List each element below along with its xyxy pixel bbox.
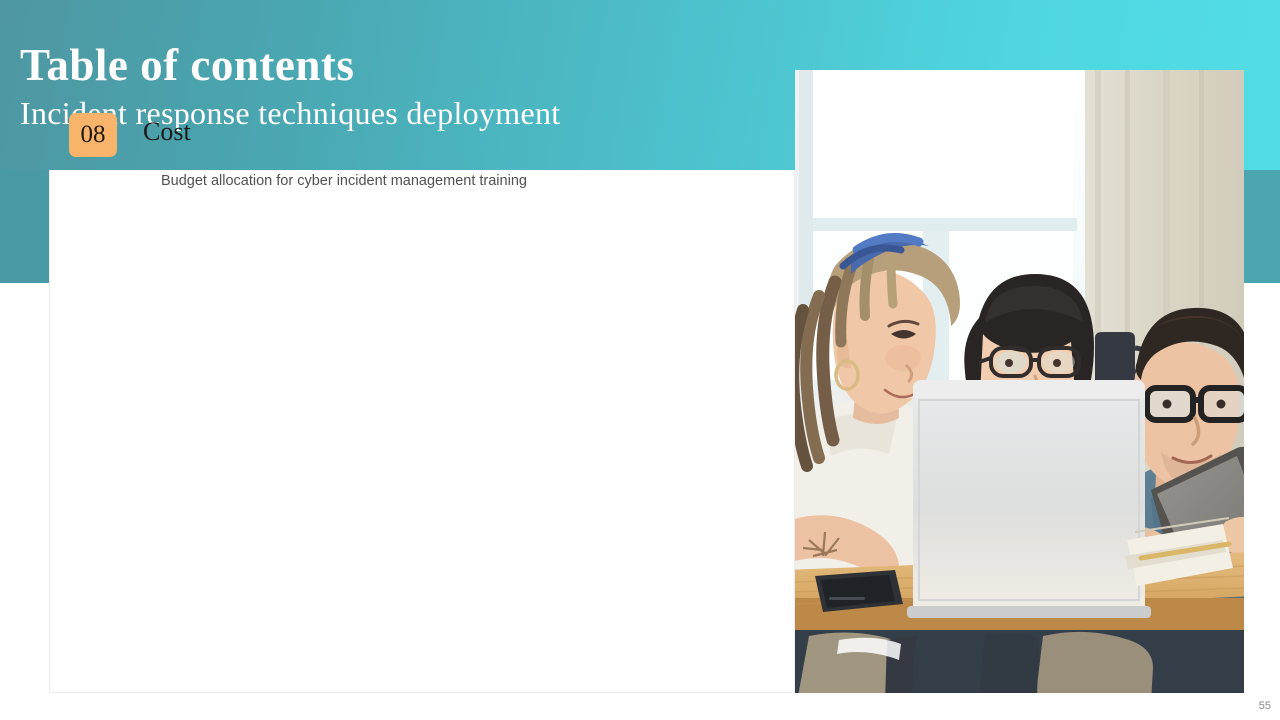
toc-number-badge: 08 — [69, 113, 117, 157]
teal-right-block — [1244, 170, 1280, 283]
content-card — [49, 170, 795, 693]
toc-entry-title: Cost — [143, 113, 191, 145]
team-meeting-photo — [795, 70, 1244, 693]
photo-illustration — [795, 70, 1244, 693]
toc-entry-header: 08 Cost — [69, 113, 689, 157]
page-title: Table of contents — [20, 42, 780, 89]
toc-entry-description: Budget allocation for cyber incident man… — [161, 172, 689, 191]
toc-entry-08[interactable]: 08 Cost Budget allocation for cyber inci… — [69, 113, 689, 191]
page-number: 55 — [1259, 700, 1271, 712]
teal-left-block — [0, 170, 49, 283]
